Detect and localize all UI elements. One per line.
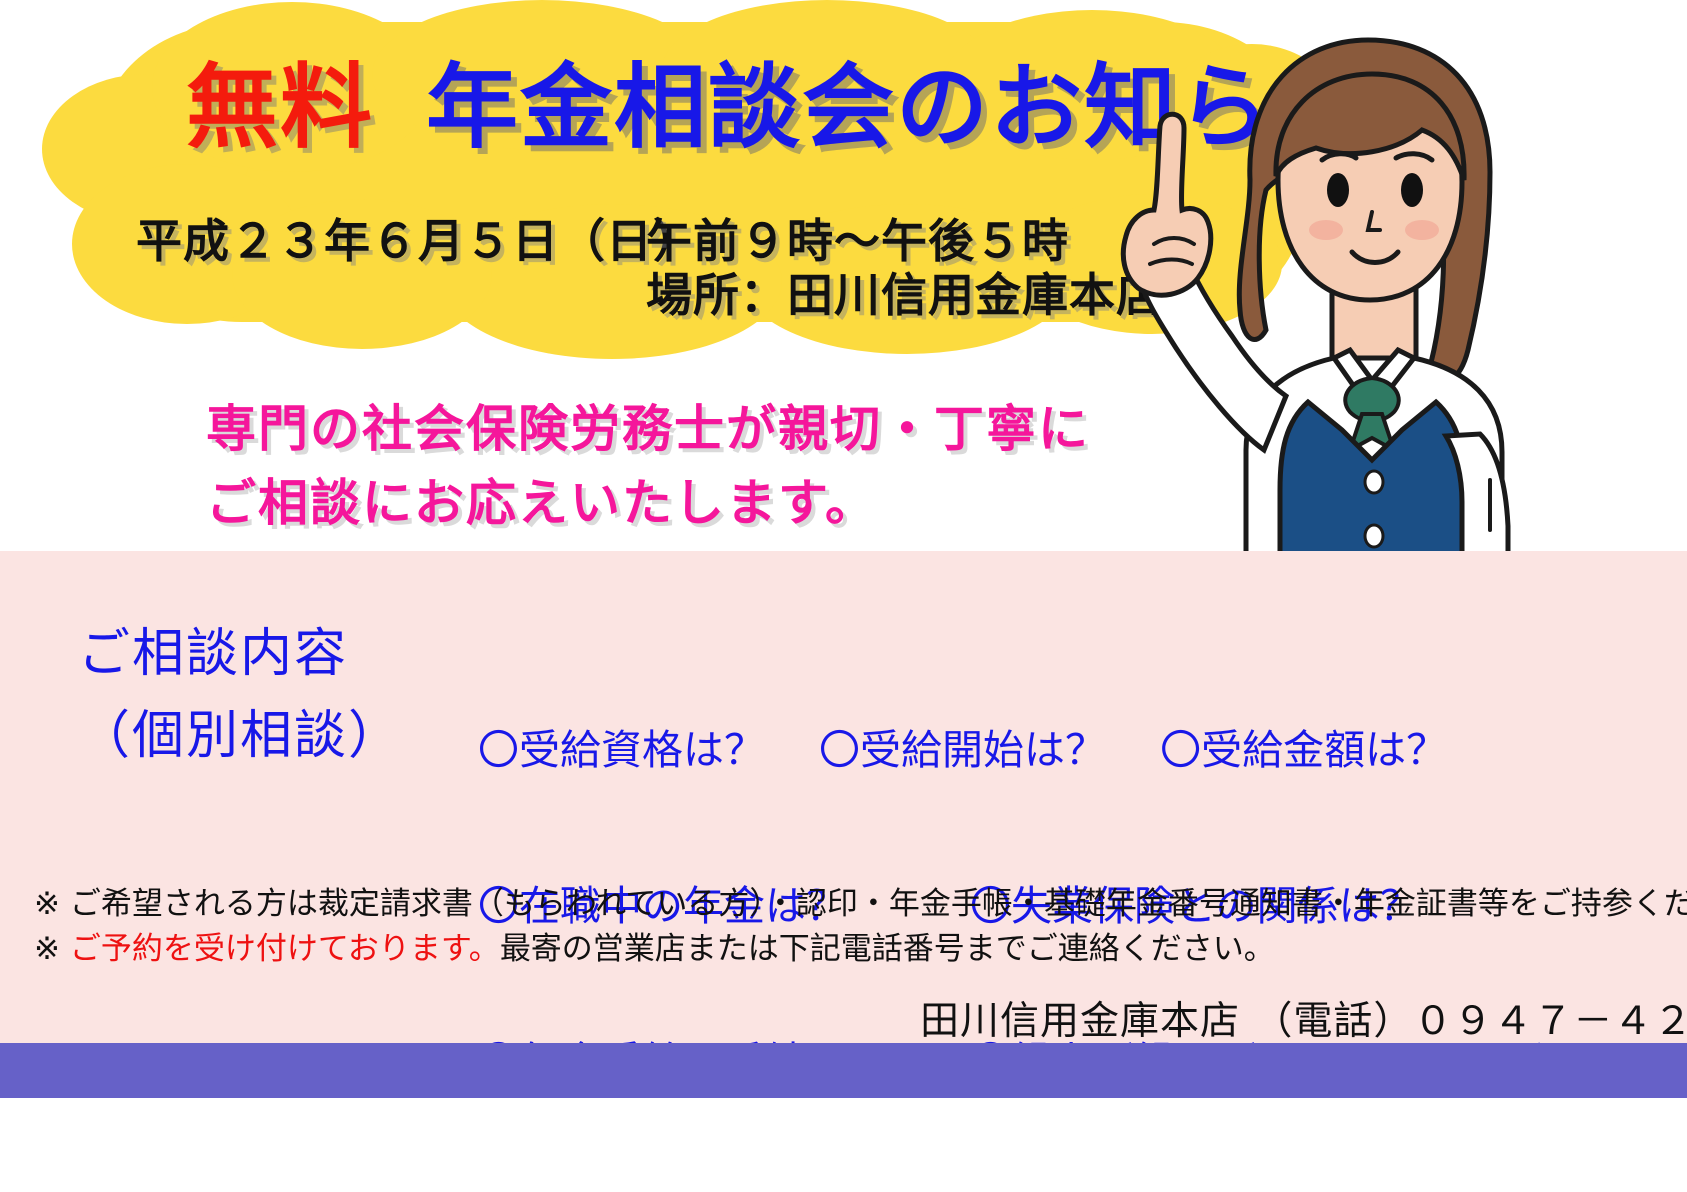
consult-label: ご相談内容 （個別相談） [78,613,402,777]
free-badge-text: 無料 [186,54,374,161]
event-date: 平成２３年６月５日（日） [136,205,700,271]
bottom-white-strip [0,1098,1687,1191]
pitch-line-1: 専門の社会保険労務士が親切・丁寧に [206,399,1090,458]
pointing-woman-illustration [1050,30,1550,553]
pitch-line-2: ご相談にお応えいたします。 [206,473,877,532]
note-line-2: ※ ご予約を受け付けております。最寄の営業店または下記電話番号までご連絡ください… [34,927,1687,972]
question-row: 〇受給資格は？ 〇受給開始は？ 〇受給金額は？ [478,724,1544,776]
notes-block: ※ ご希望される方は裁定請求書（もらわれている方）・認印・年金手帳・基礎年金番号… [34,882,1687,972]
top-section: 無料年金相談会のお知らせ 平成２３年６月５日（日） 午前９時～午後５時 場所：田… [0,0,1687,553]
note-reservation-red: ご予約を受け付けております。 [70,931,500,967]
contact-phone: 田川信用金庫本店 （電話）０９４７－４２－４０４０ [920,990,1687,1046]
poster-root: 無料年金相談会のお知らせ 平成２３年６月５日（日） 午前９時～午後５時 場所：田… [0,0,1687,1191]
note-reservation-black: 最寄の営業店または下記電話番号までご連絡ください。 [500,931,1275,967]
consult-label-line-1: ご相談内容 [78,624,348,684]
bottom-purple-bar [0,1043,1687,1098]
consult-label-line-2: （個別相談） [78,706,402,766]
note-marker: ※ [34,931,70,967]
note-line-1: ※ ご希望される方は裁定請求書（もらわれている方）・認印・年金手帳・基礎年金番号… [34,882,1687,927]
pitch-text: 専門の社会保険労務士が親切・丁寧に ご相談にお応えいたします。 [206,392,1090,540]
